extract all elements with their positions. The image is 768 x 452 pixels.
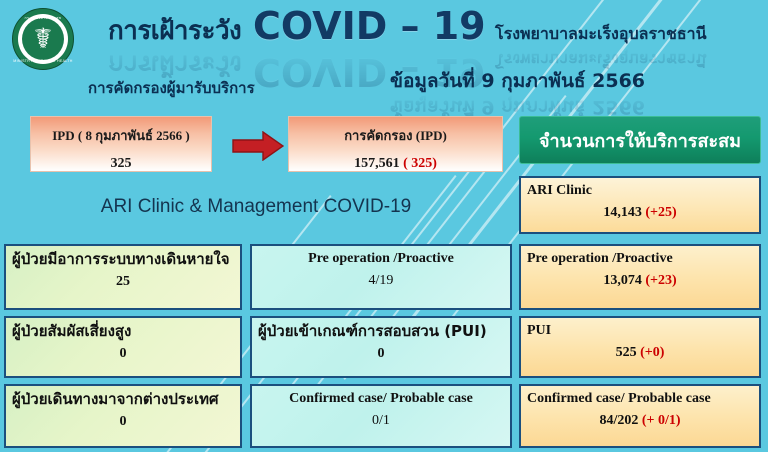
data-date: ข้อมูลวันที่ 9 กุมภาพันธ์ 2566 bbox=[390, 66, 645, 96]
row-2-right-label: PUI bbox=[527, 323, 753, 339]
row-2-right-value: 525 bbox=[616, 345, 637, 360]
row-2-left-value: 0 bbox=[12, 346, 234, 362]
row-1-right-delta: (+23) bbox=[645, 273, 676, 288]
ipd-previous-day-box: IPD ( 8 กุมภาพันธ์ 2566 ) 325 bbox=[30, 116, 212, 172]
screening-ipd-value: 157,561 bbox=[354, 156, 400, 171]
ari-clinic-value: 14,143 bbox=[603, 205, 642, 220]
screening-ipd-value-row: 157,561 ( 325) bbox=[289, 156, 502, 172]
table-row-2-left-cell: ผู้ป่วยสัมผัสเสี่ยงสูง 0 bbox=[4, 316, 242, 378]
row-1-left-label: ผู้ป่วยมีอาการระบบทางเดินหายใจ bbox=[12, 251, 234, 268]
row-1-middle-label: Pre operation /Proactive bbox=[258, 251, 504, 267]
table-row-3-middle-cell: Confirmed case/ Probable case 0/1 bbox=[250, 384, 512, 448]
row-3-middle-label: Confirmed case/ Probable case bbox=[258, 391, 504, 407]
ari-clinic-delta: (+25) bbox=[645, 205, 676, 220]
row-1-left-value: 25 bbox=[12, 274, 234, 290]
table-row-2-middle-cell: ผู้ป่วยเข้าเกณฑ์การสอบสวน (PUI) 0 bbox=[250, 316, 512, 378]
row-2-right-value-row: 525 (+0) bbox=[527, 345, 753, 361]
row-3-left-label: ผู้ป่วยเดินทางมาจากต่างประเทศ bbox=[12, 391, 234, 408]
ari-clinic-accumulated-cell: ARI Clinic 14,143 (+25) bbox=[519, 176, 761, 234]
row-1-right-label: Pre operation /Proactive bbox=[527, 251, 753, 267]
row-1-right-value: 13,074 bbox=[603, 273, 642, 288]
screening-ipd-box: การคัดกรอง (IPD) 157,561 ( 325) bbox=[288, 116, 503, 172]
section-title-ari-clinic-management: ARI Clinic & Management COVID-19 bbox=[0, 196, 512, 218]
table-row-1-middle-cell: Pre operation /Proactive 4/19 bbox=[250, 244, 512, 310]
title-covid: COVID – 19 bbox=[253, 4, 486, 48]
accumulated-services-header: จำนวนการให้บริการสะสม bbox=[519, 116, 761, 164]
logo-text-bottom: MINISTRY OF PUBLIC HEALTH bbox=[12, 59, 74, 63]
ipd-previous-day-title: IPD ( 8 กุมภาพันธ์ 2566 ) bbox=[31, 125, 211, 146]
subtitle-screening-label: การคัดกรองผู้มารับบริการ bbox=[88, 76, 255, 100]
ari-clinic-label: ARI Clinic bbox=[527, 183, 753, 199]
row-1-middle-value: 4/19 bbox=[258, 273, 504, 289]
row-3-left-value: 0 bbox=[12, 414, 234, 430]
row-1-right-value-row: 13,074 (+23) bbox=[527, 273, 753, 289]
screening-ipd-title: การคัดกรอง (IPD) bbox=[289, 125, 502, 146]
title-thai: การเฝ้าระวัง bbox=[108, 10, 241, 51]
row-3-right-label: Confirmed case/ Probable case bbox=[527, 391, 753, 407]
table-row-1-right-cell: Pre operation /Proactive 13,074 (+23) bbox=[519, 244, 761, 310]
row-2-middle-label: ผู้ป่วยเข้าเกณฑ์การสอบสวน (PUI) bbox=[258, 323, 504, 340]
row-2-middle-value: 0 bbox=[258, 346, 504, 362]
row-3-right-value-row: 84/202 (+ 0/1) bbox=[527, 413, 753, 429]
page-header: กระทรวงสาธารณสุข ☤ MINISTRY OF PUBLIC HE… bbox=[0, 0, 768, 108]
table-row-2-right-cell: PUI 525 (+0) bbox=[519, 316, 761, 378]
screening-ipd-delta: ( 325) bbox=[403, 156, 437, 171]
row-3-middle-value: 0/1 bbox=[258, 413, 504, 429]
table-row-3-right-cell: Confirmed case/ Probable case 84/202 (+ … bbox=[519, 384, 761, 448]
row-2-right-delta: (+0) bbox=[640, 345, 664, 360]
ari-clinic-value-row: 14,143 (+25) bbox=[527, 205, 753, 221]
table-row-1-left-cell: ผู้ป่วยมีอาการระบบทางเดินหายใจ 25 bbox=[4, 244, 242, 310]
ministry-of-public-health-logo-icon: กระทรวงสาธารณสุข ☤ MINISTRY OF PUBLIC HE… bbox=[12, 8, 74, 70]
row-3-right-value: 84/202 bbox=[599, 413, 638, 428]
table-row-3-left-cell: ผู้ป่วยเดินทางมาจากต่างประเทศ 0 bbox=[4, 384, 242, 448]
row-2-left-label: ผู้ป่วยสัมผัสเสี่ยงสูง bbox=[12, 323, 234, 340]
ipd-previous-day-value: 325 bbox=[31, 156, 211, 172]
hospital-name: โรงพยาบาลมะเร็งอุบลราชธานี bbox=[495, 22, 707, 47]
row-3-right-delta: (+ 0/1) bbox=[642, 413, 681, 428]
right-arrow-icon bbox=[232, 131, 284, 161]
